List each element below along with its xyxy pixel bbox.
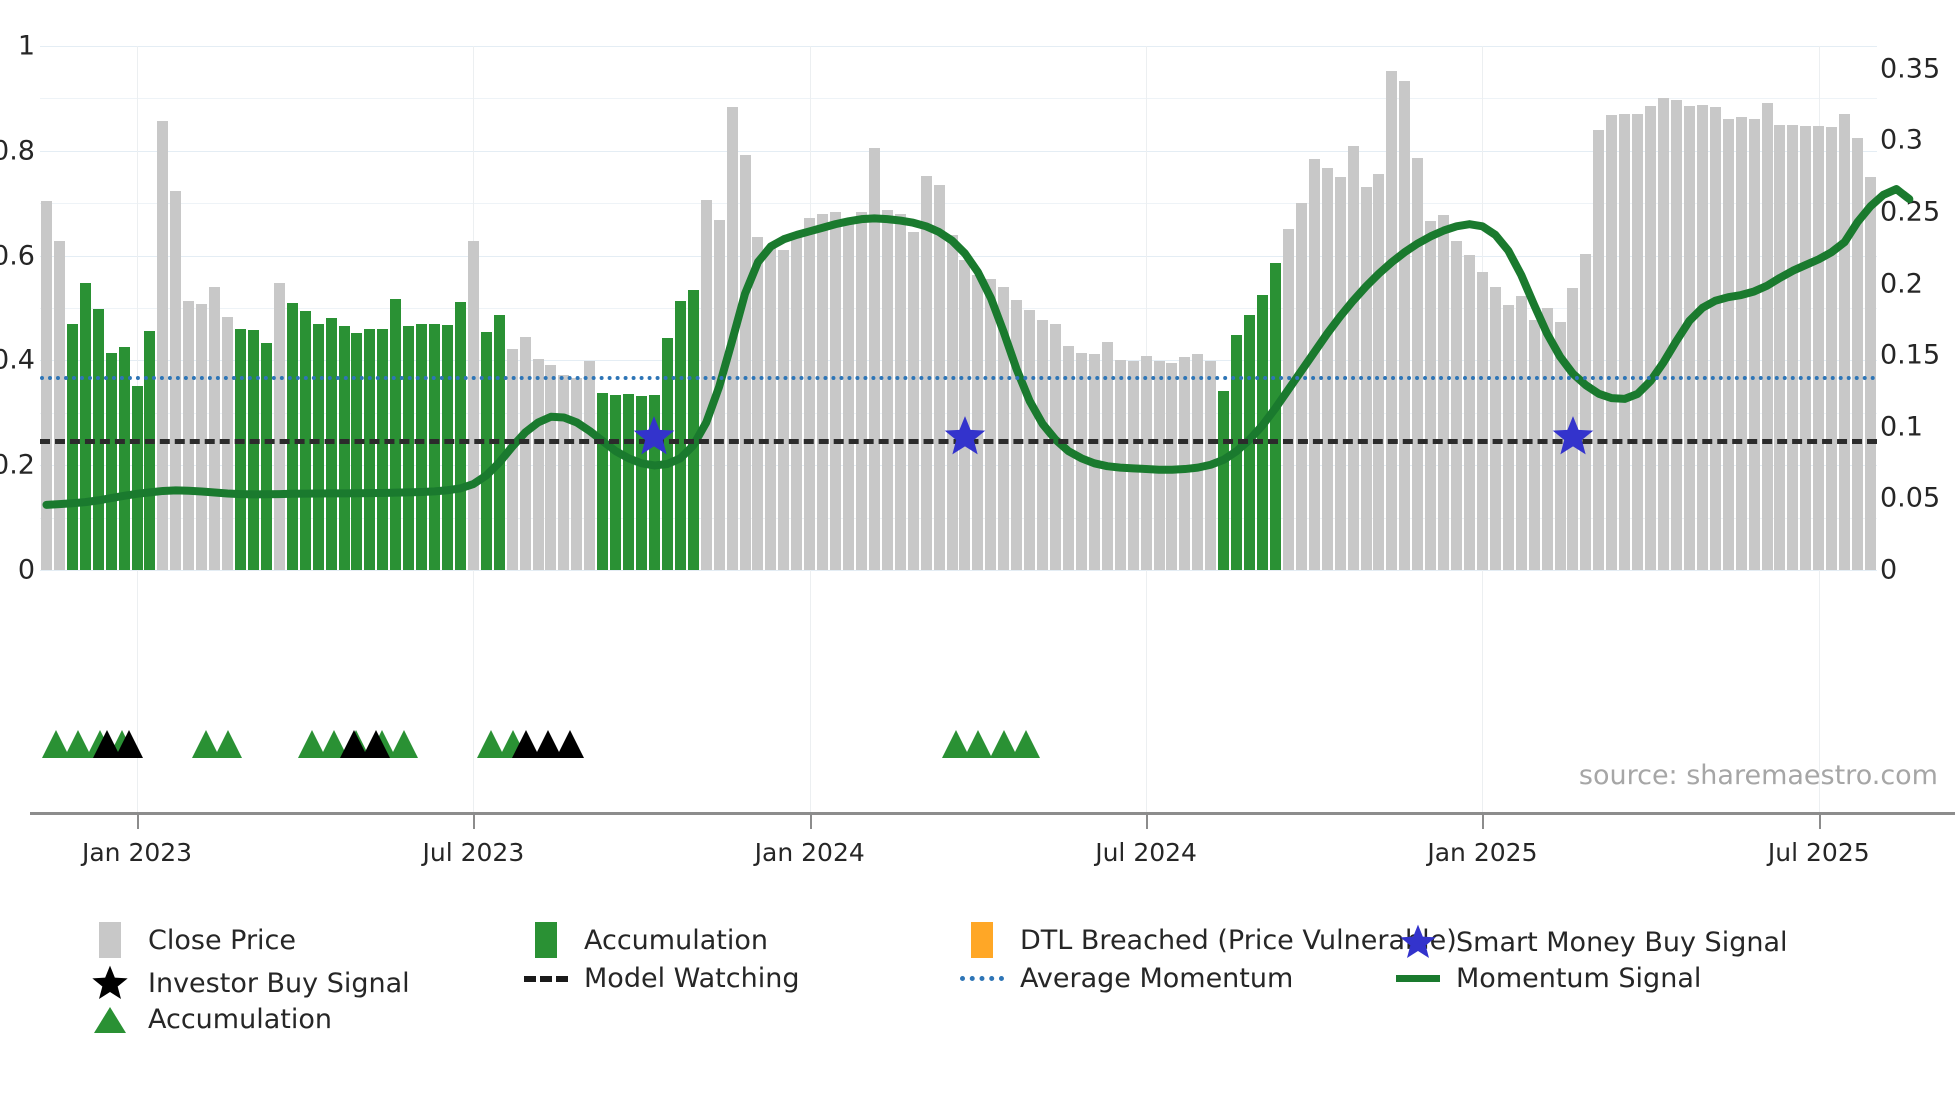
y-left-tick: 0.2 (0, 450, 35, 481)
average-momentum-line (40, 376, 1877, 380)
legend-label: Smart Money Buy Signal (1456, 927, 1788, 958)
chart-legend: Close PriceAccumulationDTL Breached (Pri… (88, 922, 1928, 1045)
legend-item-dtl-breached[interactable]: DTL Breached (Price Vulnerable) (960, 922, 1457, 958)
legend-label: Accumulation (584, 925, 768, 956)
accumulation-triangle (390, 730, 418, 758)
swatch-square-icon (88, 922, 132, 958)
x-tick (473, 813, 475, 829)
x-axis-line (30, 812, 1955, 815)
legend-label: Model Watching (584, 963, 799, 994)
chart-root: 00.20.40.60.81 00.050.10.150.20.250.30.3… (0, 0, 1960, 1102)
investor-buy-triangle (115, 730, 143, 758)
x-tick (1819, 813, 1821, 829)
accumulation-triangle (214, 730, 242, 758)
legend-item-momentum-signal[interactable]: Momentum Signal (1396, 963, 1701, 994)
smart-money-buy-marker (631, 413, 677, 463)
plot-area (40, 46, 1877, 570)
star-icon (1396, 922, 1440, 962)
solid-line-icon (1396, 975, 1440, 982)
x-tick (1146, 813, 1148, 829)
legend-label: Momentum Signal (1456, 963, 1701, 994)
legend-item-investor-buy-signal[interactable]: Investor Buy Signal (88, 963, 410, 1003)
x-tick-label: Jan 2025 (1427, 838, 1537, 867)
star-icon (88, 963, 132, 1003)
triangle-icon (88, 1007, 132, 1033)
gridline (40, 570, 1877, 571)
y-right-tick: 0.2 (1880, 268, 1923, 299)
legend-item-average-momentum[interactable]: Average Momentum (960, 963, 1293, 994)
x-tick-label: Jan 2024 (755, 838, 865, 867)
y-right-tick: 0.1 (1880, 411, 1923, 442)
investor-buy-triangle (556, 730, 584, 758)
legend-row: Accumulation (88, 1004, 1928, 1045)
y-left-tick: 0.6 (0, 240, 35, 271)
x-tick-label: Jan 2023 (82, 838, 192, 867)
accumulation-triangle (964, 730, 992, 758)
y-left-tick: 0.8 (0, 135, 35, 166)
smart-money-buy-marker (1550, 413, 1596, 463)
source-note: source: sharemaestro.com (1579, 760, 1938, 791)
investor-buy-triangle (362, 730, 390, 758)
y-left-tick: 1 (18, 31, 35, 62)
momentum-signal-line (40, 46, 1877, 570)
legend-label: DTL Breached (Price Vulnerable) (1020, 925, 1457, 956)
legend-item-close-price[interactable]: Close Price (88, 922, 296, 958)
accumulation-triangle (1012, 730, 1040, 758)
y-left-tick: 0 (18, 555, 35, 586)
legend-item-smart-money-buy-signal[interactable]: Smart Money Buy Signal (1396, 922, 1788, 962)
y-right-tick: 0.3 (1880, 125, 1923, 156)
x-tick-label: Jul 2025 (1768, 838, 1870, 867)
x-tick-label: Jul 2024 (1095, 838, 1197, 867)
y-right-tick: 0 (1880, 555, 1897, 586)
legend-item-model-watching[interactable]: Model Watching (524, 963, 799, 994)
y-right-tick: 0.15 (1880, 340, 1940, 371)
dotted-line-icon (960, 976, 1004, 981)
legend-item-accumulation-bar[interactable]: Accumulation (524, 922, 768, 958)
dashed-line-icon (524, 976, 568, 982)
legend-label: Accumulation (148, 1004, 332, 1035)
y-right-tick: 0.35 (1880, 53, 1940, 84)
swatch-square-icon (524, 922, 568, 958)
x-tick (1482, 813, 1484, 829)
smart-money-buy-marker (942, 413, 988, 463)
legend-row: Close PriceAccumulationDTL Breached (Pri… (88, 922, 1928, 963)
legend-label: Average Momentum (1020, 963, 1293, 994)
legend-label: Investor Buy Signal (148, 968, 410, 999)
y-right-tick: 0.05 (1880, 483, 1940, 514)
swatch-square-icon (960, 922, 1004, 958)
x-tick-label: Jul 2023 (423, 838, 525, 867)
x-tick (137, 813, 139, 829)
y-left-tick: 0.4 (0, 345, 35, 376)
legend-item-accumulation-marker[interactable]: Accumulation (88, 1004, 332, 1035)
legend-row: Investor Buy SignalModel WatchingAverage… (88, 963, 1928, 1004)
x-tick (810, 813, 812, 829)
legend-label: Close Price (148, 925, 296, 956)
